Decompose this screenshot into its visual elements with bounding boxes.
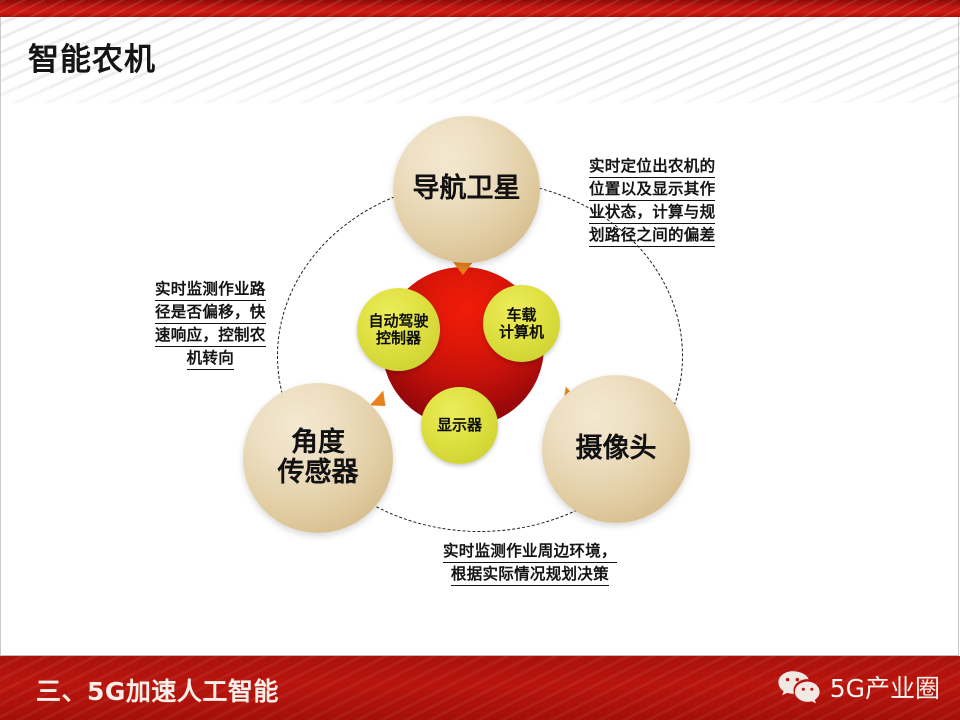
node-navigation-satellite-label: 导航卫星 xyxy=(413,174,521,204)
node-autopilot-controller[interactable]: 自动驾驶 控制器 xyxy=(357,288,440,371)
annotation-navigation-satellite: 实时定位出农机的 位置以及显示其作 业状态，计算与规 划路径之间的偏差 xyxy=(589,155,715,247)
node-autopilot-controller-line2: 控制器 xyxy=(368,330,428,347)
annotation-top-right-line3: 业状态，计算与规 xyxy=(589,201,715,224)
slide-footer: 三、5G加速人工智能 5G产业圈 xyxy=(0,656,960,720)
annotation-left-line1: 实时监测作业路 xyxy=(155,278,266,301)
annotation-angle-sensor: 实时监测作业路 径是否偏移，快 速响应，控制农 机转向 xyxy=(155,278,266,370)
node-onboard-computer-line2: 计算机 xyxy=(499,324,544,341)
arrow-down-icon xyxy=(453,262,473,275)
section-title: 三、5G加速人工智能 xyxy=(36,672,279,708)
annotation-left-line3: 速响应，控制农 xyxy=(155,324,266,347)
node-angle-sensor-line2: 传感器 xyxy=(278,458,359,488)
annotation-top-right-line4: 划路径之间的偏差 xyxy=(589,224,715,247)
wechat-icon xyxy=(777,670,823,704)
brand-block: 5G产业圈 xyxy=(777,669,940,705)
slide-canvas: 智能农机 自动驾驶 控制器 车载 计算机 显示器 导航卫星 xyxy=(0,0,960,720)
node-angle-sensor-line1: 角度 xyxy=(278,428,359,458)
annotation-top-right-line1: 实时定位出农机的 xyxy=(589,155,715,178)
annotation-bottom-line2: 根据实际情况规划决策 xyxy=(451,563,609,586)
node-camera[interactable]: 摄像头 xyxy=(542,375,690,523)
brand-name: 5G产业圈 xyxy=(830,669,940,705)
node-angle-sensor[interactable]: 角度 传感器 xyxy=(243,383,393,533)
annotation-bottom-line1: 实时监测作业周边环境， xyxy=(443,540,617,563)
node-display[interactable]: 显示器 xyxy=(421,387,498,464)
annotation-top-right-line2: 位置以及显示其作 xyxy=(589,178,715,201)
node-autopilot-controller-line1: 自动驾驶 xyxy=(368,313,428,330)
annotation-left-line2: 径是否偏移，快 xyxy=(155,301,266,324)
node-camera-label: 摄像头 xyxy=(576,434,657,464)
node-onboard-computer[interactable]: 车载 计算机 xyxy=(483,285,560,362)
agriculture-machinery-diagram: 自动驾驶 控制器 车载 计算机 显示器 导航卫星 角度 传感器 摄像头 xyxy=(0,0,960,720)
node-onboard-computer-line1: 车载 xyxy=(499,307,544,324)
annotation-camera: 实时监测作业周边环境， 根据实际情况规划决策 xyxy=(443,540,617,586)
annotation-left-line4: 机转向 xyxy=(187,347,234,370)
node-display-label: 显示器 xyxy=(437,417,482,434)
node-navigation-satellite[interactable]: 导航卫星 xyxy=(393,116,540,263)
